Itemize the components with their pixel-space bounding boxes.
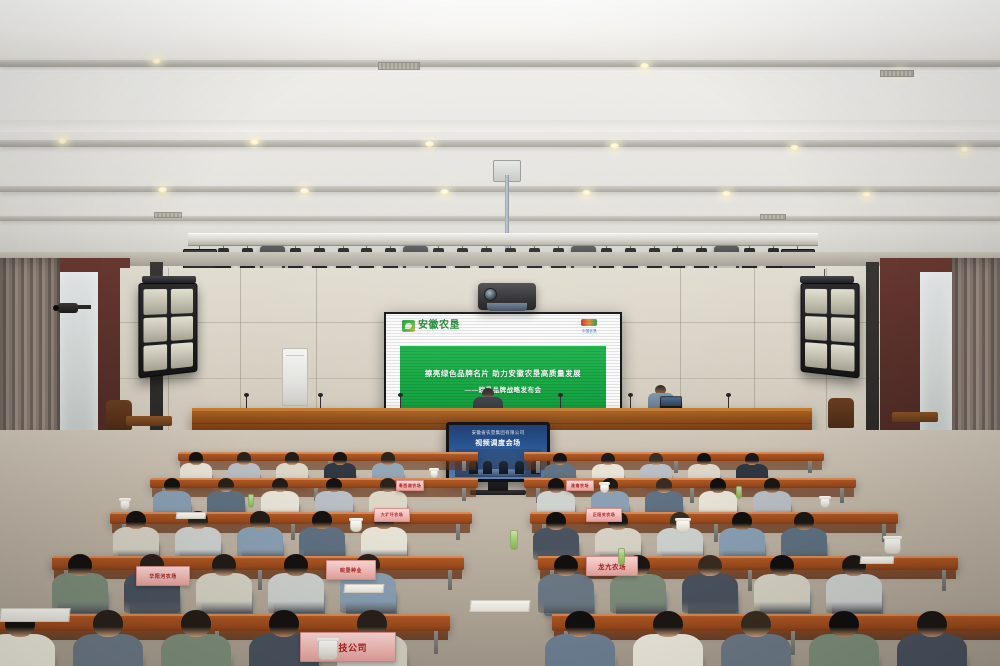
monitor-header-small: 安徽省农垦集团有限公司 [449, 430, 547, 436]
audience-member [73, 610, 142, 666]
person-head [656, 478, 672, 493]
person-torso [721, 634, 790, 666]
left-window-sheer [60, 272, 98, 440]
name-card-text: 大圹圩农场 [381, 512, 404, 518]
audience-member [52, 554, 108, 615]
name-card-text: 寿西湖农场 [399, 483, 422, 489]
person-head [649, 453, 663, 465]
person-head [218, 478, 234, 493]
left-line-array-speaker [138, 283, 197, 379]
person-torso [754, 574, 810, 614]
desk-leg [840, 488, 844, 503]
name-card-text: 淮南农场 [571, 483, 589, 489]
person-head [745, 453, 759, 465]
audience-member [721, 611, 790, 666]
water-cup [430, 470, 438, 478]
cup-lid [429, 468, 439, 471]
person-head [553, 453, 567, 465]
person-head [237, 452, 251, 464]
name-card-text: 皖垦种业 [340, 567, 362, 574]
person-head [164, 478, 180, 493]
person-head [93, 610, 122, 637]
desk-name-card: 寿西湖农场 [396, 480, 424, 491]
person-head [770, 555, 793, 577]
left-curtain [0, 258, 60, 444]
slide-brand-logo: 安徽农垦 [402, 320, 460, 332]
drink-bottle [736, 486, 742, 499]
water-cup [318, 640, 338, 660]
drink-bottle [510, 530, 518, 550]
cup-lid [819, 496, 831, 499]
person-head [741, 611, 770, 638]
person-torso [52, 573, 108, 613]
monitor-header-large: 视频调度会场 [449, 438, 547, 448]
desk-name-card: 皖垦种业 [326, 560, 376, 580]
person-torso [826, 574, 882, 614]
desk-leg [291, 524, 295, 540]
drink-bottle [248, 494, 254, 508]
person-torso [809, 634, 878, 666]
desk-leg [434, 631, 438, 654]
desk-name-card: 龙亢农场 [586, 556, 638, 576]
desk-leg [448, 570, 452, 590]
desk-leg [714, 524, 718, 542]
person-torso [538, 574, 594, 614]
person-torso [73, 634, 142, 666]
person-head [189, 452, 203, 464]
person-head [697, 453, 711, 465]
audience-member [161, 610, 230, 666]
person-head [68, 554, 91, 576]
audience-member [754, 555, 810, 616]
desk-leg [258, 570, 262, 590]
wall-accent-strip-right [866, 262, 879, 440]
desk-leg [674, 461, 678, 473]
person-torso [196, 573, 252, 613]
person-torso [633, 634, 702, 666]
cup-lid [599, 482, 610, 485]
water-cup [600, 484, 609, 493]
person-torso [0, 634, 55, 666]
water-cup [676, 520, 690, 533]
slide-title: 擦亮绿色品牌名片 助力安徽农垦高质量发展 [425, 368, 582, 379]
person-torso [682, 574, 738, 614]
desk-leg [942, 570, 946, 591]
audience-member [682, 555, 738, 616]
audience-member [633, 611, 702, 666]
desk-name-card: 华阳河农场 [136, 566, 190, 586]
desk-name-card: 大圹圩农场 [374, 508, 410, 522]
person-torso [545, 634, 614, 666]
lighting-truss [188, 233, 818, 246]
right-speaker-rigging [800, 276, 854, 283]
person-head [269, 610, 298, 637]
desk-name-card: 正阳关农场 [586, 508, 622, 522]
document-papers [176, 512, 207, 519]
desk-leg [462, 461, 466, 471]
person-head [554, 555, 577, 577]
name-card-text: 正阳关农场 [593, 512, 616, 518]
leaf-logo-icon [402, 320, 415, 332]
audience-member [268, 554, 324, 615]
person-head [285, 452, 299, 464]
person-head [326, 478, 342, 493]
person-torso [161, 634, 230, 666]
side-table-left [126, 416, 172, 426]
desk-name-card: 农技公司 [300, 632, 396, 662]
person-head [764, 478, 780, 493]
audience-member [545, 611, 614, 666]
person-head [284, 554, 307, 576]
conference-hall-photo: 安徽农垦 中国农垦 擦亮绿色品牌名片 助力安徽农垦高质量发展 ——皖垦品牌战略发… [0, 0, 1000, 666]
person-head [917, 611, 946, 638]
desk-leg [748, 570, 752, 591]
drink-bottle [618, 548, 625, 565]
desk-leg [791, 631, 795, 655]
person-head [381, 452, 395, 464]
ceiling-projector [478, 283, 536, 310]
water-cup [120, 500, 130, 510]
person-torso [268, 573, 324, 613]
wall-bracket [78, 305, 91, 309]
person-head [546, 512, 565, 530]
desk-leg [808, 461, 812, 473]
desk-leg [536, 461, 540, 473]
right-line-array-speaker [801, 283, 860, 379]
person-torso [610, 574, 666, 614]
audience-desk [110, 512, 472, 524]
desk-leg [462, 488, 466, 501]
monitor-stand [488, 482, 508, 491]
side-table-right [892, 412, 938, 422]
audience-member [196, 554, 252, 615]
side-cabinet [282, 348, 308, 406]
person-head [710, 478, 726, 493]
cup-lid [883, 536, 902, 539]
partner-emblem-icon: 中国农垦 [572, 319, 606, 341]
person-head [333, 452, 347, 464]
desk-name-card: 淮南农场 [566, 480, 594, 491]
water-cup [820, 498, 830, 508]
person-head [212, 554, 235, 576]
partner-sub-text: 中国农垦 [581, 328, 596, 333]
cup-lid [119, 498, 131, 501]
audience-member [897, 611, 966, 666]
document-papers [860, 556, 895, 564]
person-head [126, 511, 145, 529]
right-curtain [952, 258, 1000, 444]
document-papers [0, 608, 71, 622]
person-head [250, 511, 269, 529]
cup-lid [349, 518, 363, 521]
person-head [829, 611, 858, 638]
name-card-text: 华阳河农场 [149, 573, 177, 580]
person-head [601, 453, 615, 465]
projector-lens-icon [484, 288, 497, 301]
person-head [653, 611, 682, 638]
person-head [272, 478, 288, 493]
cup-lid [317, 638, 339, 641]
side-chair-right [828, 398, 854, 428]
person-head [380, 478, 396, 493]
person-head [312, 511, 331, 529]
document-papers [344, 584, 385, 593]
audience-member [809, 611, 878, 666]
person-head [794, 512, 813, 530]
person-torso [897, 634, 966, 666]
water-cup [884, 538, 901, 554]
person-head [698, 555, 721, 577]
water-cup [350, 520, 362, 532]
person-head [548, 478, 564, 493]
brand-logo-text: 安徽农垦 [418, 321, 460, 331]
left-speaker-rigging [142, 276, 196, 283]
audience-desk [52, 556, 464, 570]
wall-camera-icon [58, 303, 78, 313]
person-head [565, 611, 594, 638]
document-papers [469, 600, 530, 612]
desk-leg [690, 488, 694, 503]
desk-leg [456, 524, 460, 540]
person-head [181, 610, 210, 637]
person-head [732, 512, 751, 530]
cup-lid [675, 518, 691, 521]
